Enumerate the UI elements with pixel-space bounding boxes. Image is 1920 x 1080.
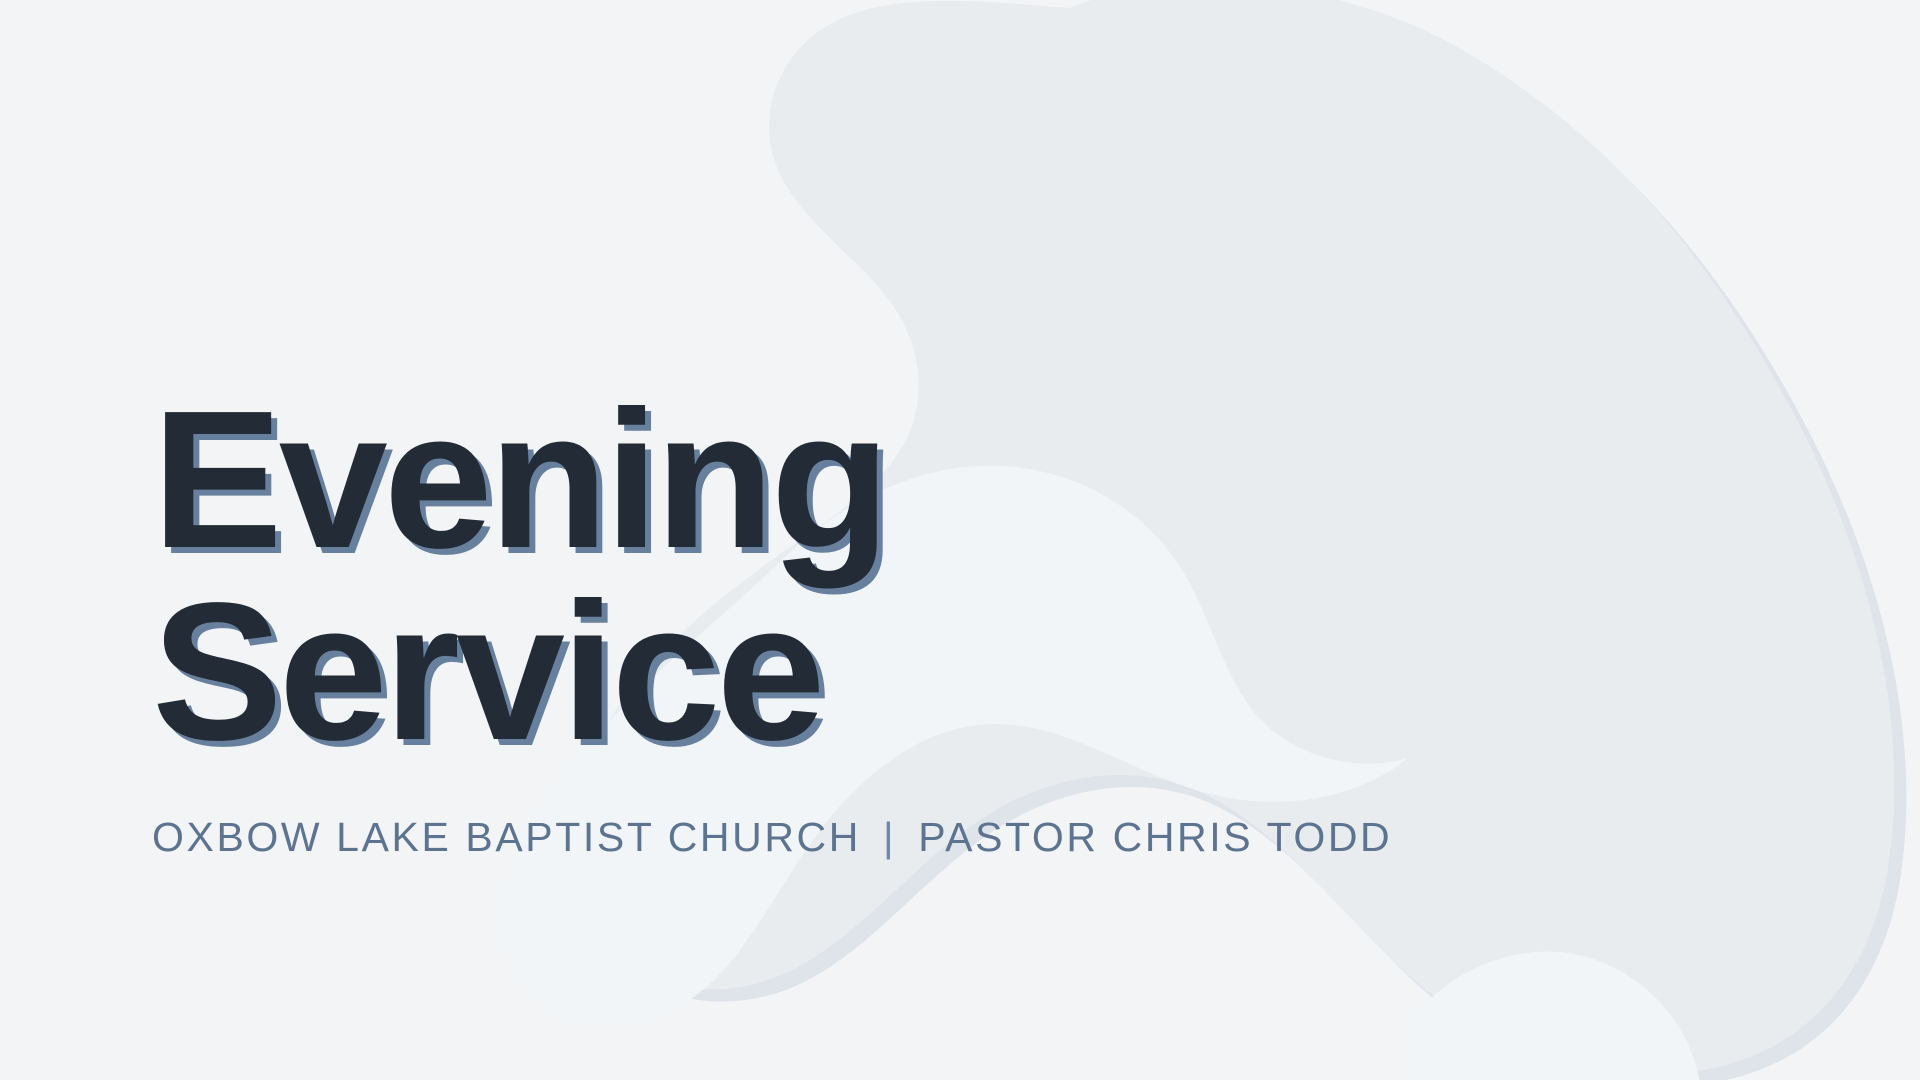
slide-canvas: Evening Service OXBOW LAKE BAPTIST CHURC… (0, 0, 1920, 1080)
subtitle-speaker: PASTOR CHRIS TODD (918, 814, 1392, 861)
blob-wisp-shape (1406, 952, 1699, 1080)
headline-line-1: Evening (152, 384, 1552, 576)
headline-line-2: Service (152, 576, 1552, 768)
subtitle-organization: OXBOW LAKE BAPTIST CHURCH (152, 814, 861, 861)
page-title: Evening Service (152, 384, 1552, 768)
subtitle-separator: | (883, 814, 896, 861)
slide-content: Evening Service OXBOW LAKE BAPTIST CHURC… (152, 384, 1552, 861)
subtitle: OXBOW LAKE BAPTIST CHURCH | PASTOR CHRIS… (152, 814, 1552, 861)
